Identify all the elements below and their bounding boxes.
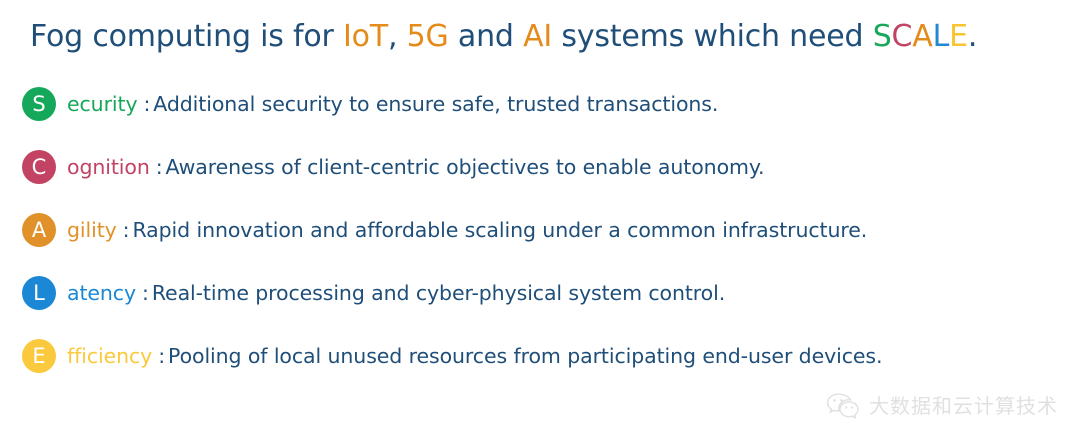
list-item-text: atency:Real-time processing and cyber-ph… — [67, 275, 725, 311]
description-security: Additional security to ensure safe, trus… — [153, 92, 718, 116]
list-item-text: ognition:Awareness of client-centric obj… — [67, 149, 764, 185]
scale-acronym-list: S ecurity:Additional security to ensure … — [22, 86, 1062, 401]
keyword-latency: atency — [67, 281, 136, 305]
title-scale-e: E — [949, 19, 968, 54]
separator-colon: : — [137, 92, 153, 116]
wechat-logo-icon — [826, 393, 860, 419]
keyword-agility: gility — [67, 218, 117, 242]
description-cognition: Awareness of client-centric objectives t… — [166, 155, 765, 179]
list-item-text: gility:Rapid innovation and affordable s… — [67, 212, 867, 248]
title-segment-5g: 5G — [407, 19, 449, 54]
separator-colon: : — [152, 344, 168, 368]
keyword-security: ecurity — [67, 92, 137, 116]
description-agility: Rapid innovation and affordable scaling … — [132, 218, 867, 242]
watermark: 大数据和云计算技术 — [826, 393, 1058, 419]
keyword-efficiency: fficiency — [67, 344, 152, 368]
list-item-cognition: C ognition:Awareness of client-centric o… — [22, 149, 1062, 212]
slide-title: Fog computing is for IoT, 5G and AI syst… — [30, 17, 977, 57]
title-scale-s: S — [873, 19, 892, 54]
title-segment-mid: systems which need — [552, 19, 873, 54]
list-item-security: S ecurity:Additional security to ensure … — [22, 86, 1062, 149]
description-latency: Real-time processing and cyber-physical … — [152, 281, 725, 305]
title-scale-a: A — [912, 19, 932, 54]
badge-letter-c: C — [22, 150, 56, 184]
title-period: . — [968, 19, 977, 54]
description-efficiency: Pooling of local unused resources from p… — [168, 344, 882, 368]
title-segment-ai: AI — [523, 19, 552, 54]
list-item-agility: A gility:Rapid innovation and affordable… — [22, 212, 1062, 275]
list-item-latency: L atency:Real-time processing and cyber-… — [22, 275, 1062, 338]
title-scale-l: L — [933, 19, 950, 54]
title-segment-lead: Fog computing is for — [30, 19, 343, 54]
separator-colon: : — [117, 218, 133, 242]
separator-colon: : — [150, 155, 166, 179]
list-item-efficiency: E fficiency:Pooling of local unused reso… — [22, 338, 1062, 401]
title-scale-c: C — [892, 19, 913, 54]
title-segment-comma: , — [388, 19, 407, 54]
title-segment-and: and — [449, 19, 524, 54]
watermark-text: 大数据和云计算技术 — [869, 394, 1058, 418]
badge-letter-l: L — [22, 276, 56, 310]
separator-colon: : — [136, 281, 152, 305]
badge-letter-a: A — [22, 213, 56, 247]
badge-letter-s: S — [22, 87, 56, 121]
title-segment-iot: IoT — [343, 19, 388, 54]
list-item-text: ecurity:Additional security to ensure sa… — [67, 86, 718, 122]
badge-letter-e: E — [22, 339, 56, 373]
keyword-cognition: ognition — [67, 155, 150, 179]
list-item-text: fficiency:Pooling of local unused resour… — [67, 338, 882, 374]
